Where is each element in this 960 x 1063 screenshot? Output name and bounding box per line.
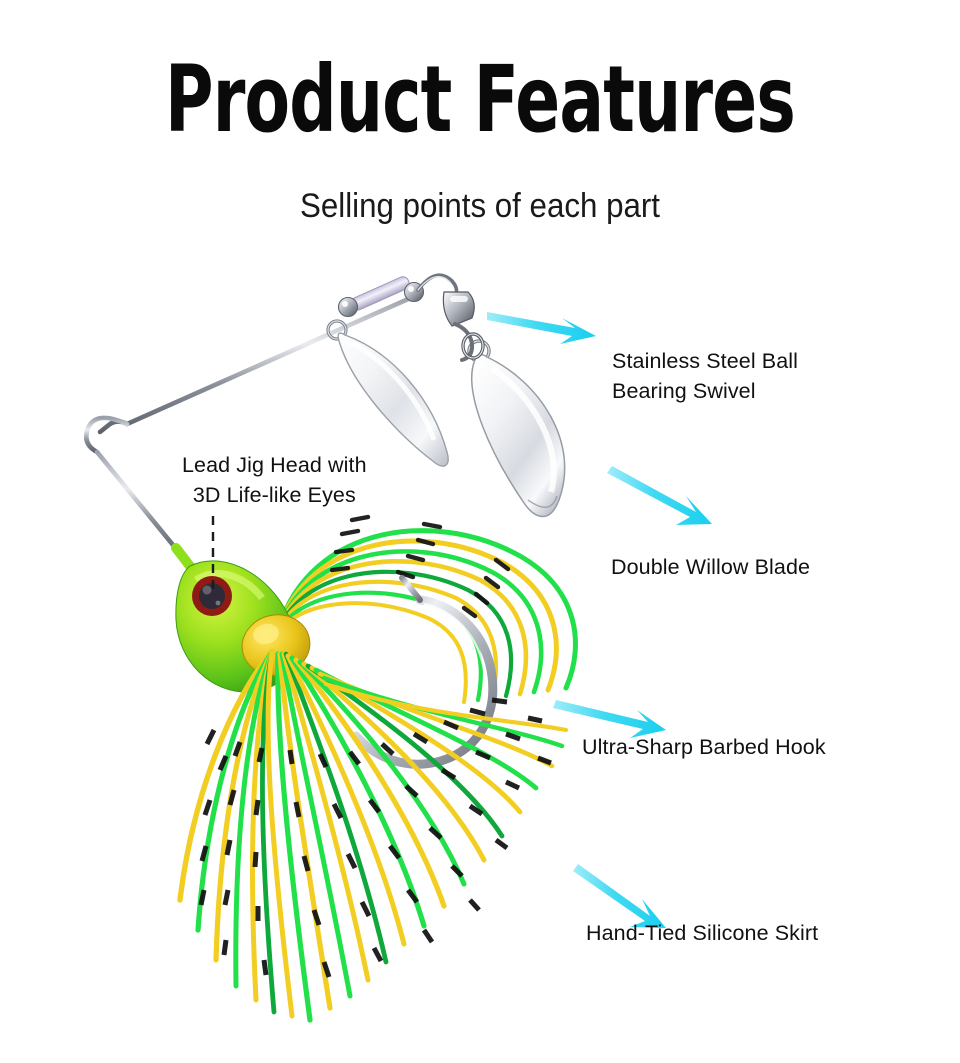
callout-label-lead-jig-head: Lead Jig Head with 3D Life-like Eyes xyxy=(182,450,367,510)
arrow-double-willow-blade xyxy=(607,466,712,525)
callout-label-ball-bearing-swivel: Stainless Steel Ball Bearing Swivel xyxy=(612,346,798,406)
callout-label-silicone-skirt: Hand-Tied Silicone Skirt xyxy=(586,918,818,948)
callout-line-1: Lead Jig Head with xyxy=(182,450,367,480)
callout-line-2: 3D Life-like Eyes xyxy=(182,480,367,510)
callout-line-1: Hand-Tied Silicone Skirt xyxy=(586,918,818,948)
callout-label-barbed-hook: Ultra-Sharp Barbed Hook xyxy=(582,732,826,762)
willow-blade-small xyxy=(328,321,448,466)
callout-line-1: Ultra-Sharp Barbed Hook xyxy=(582,732,826,762)
willow-blade-large xyxy=(469,341,565,517)
callout-line-1: Stainless Steel Ball xyxy=(612,346,798,376)
product-features-infographic: Product Features Selling points of each … xyxy=(0,0,960,1063)
callout-line-1: Double Willow Blade xyxy=(611,552,810,582)
spinnerbait-illustration xyxy=(0,0,960,1063)
arrow-ball-bearing-swivel xyxy=(487,312,596,344)
callout-label-double-willow-blade: Double Willow Blade xyxy=(611,552,810,582)
skirt-front-strands xyxy=(180,652,566,1020)
callout-line-2: Bearing Swivel xyxy=(612,376,798,406)
